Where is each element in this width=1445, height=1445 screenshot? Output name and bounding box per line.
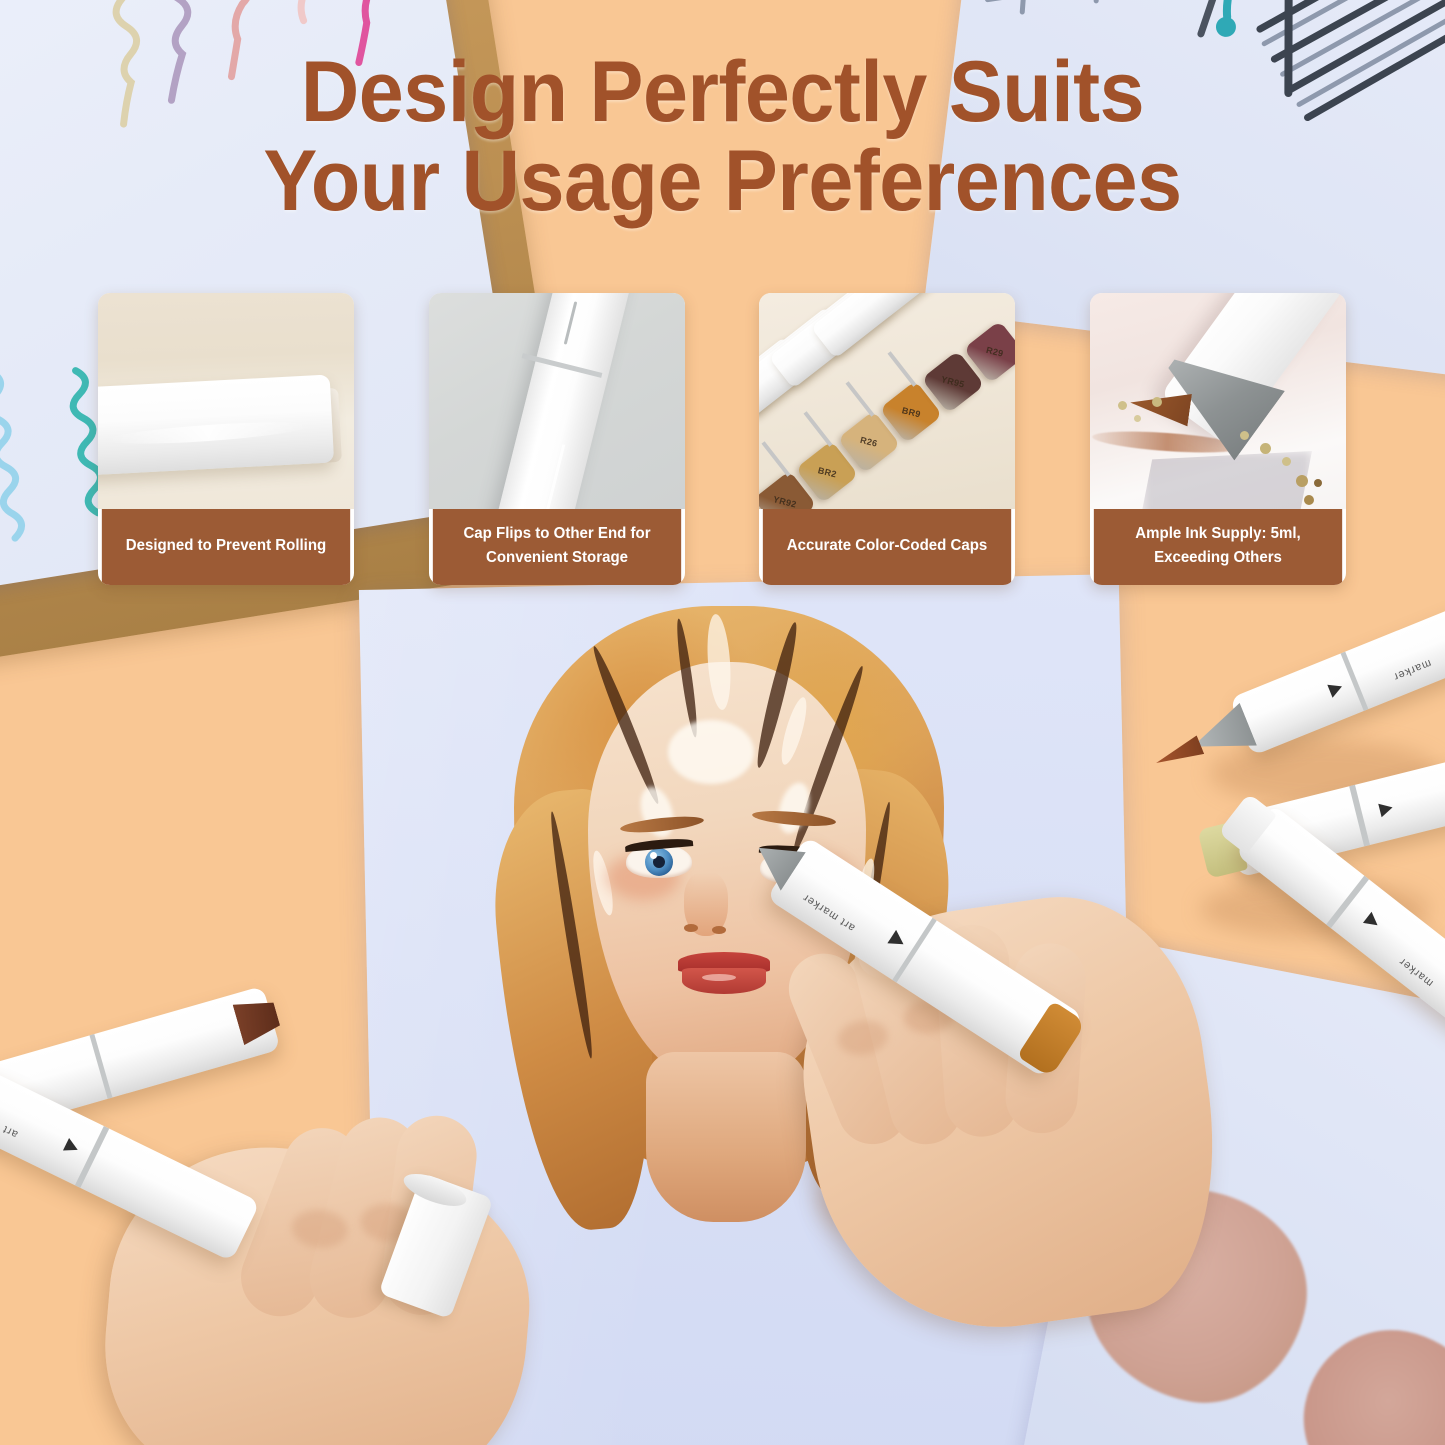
marker-cap-code: R29 <box>986 345 1005 359</box>
feature-label-color-coded-caps: Accurate Color-Coded Caps <box>763 509 1011 585</box>
product-infographic: Design Perfectly Suits Your Usage Prefer… <box>0 0 1445 1445</box>
feature-image-color-coded-caps: YR92BR2R26BR9YR95R29 <box>759 293 1015 509</box>
marker-cap-code: BR2 <box>817 465 838 479</box>
feature-card-prevent-rolling[interactable]: Designed to Prevent Rolling <box>98 293 354 585</box>
feature-image-ink-supply <box>1090 293 1346 509</box>
feature-label-ink-supply: Ample Ink Supply: 5ml, Exceeding Others <box>1094 509 1342 585</box>
marker-cap-code: BR9 <box>901 405 922 419</box>
feature-label-prevent-rolling: Designed to Prevent Rolling <box>102 509 350 585</box>
feature-card-cap-flip[interactable]: Cap Flips to Other End for Convenient St… <box>429 293 685 585</box>
marker-cap-code: R26 <box>860 435 879 449</box>
feature-label-cap-flip: Cap Flips to Other End for Convenient St… <box>432 509 680 585</box>
marker-cap-code: YR92 <box>773 494 798 509</box>
color-swatch-blob <box>1288 1315 1445 1445</box>
page-title: Design Perfectly Suits Your Usage Prefer… <box>43 48 1401 227</box>
feature-image-cap-flip <box>429 293 685 509</box>
marker-cap-code: YR95 <box>941 374 966 389</box>
feature-card-ink-supply[interactable]: Ample Ink Supply: 5ml, Exceeding Others <box>1090 293 1346 585</box>
feature-card-color-coded-caps[interactable]: YR92BR2R26BR9YR95R29 Accurate Color-Code… <box>759 293 1015 585</box>
marker-right-brush-top: marker <box>1229 586 1445 756</box>
feature-card-row: Designed to Prevent Rolling Cap Flips to… <box>98 293 1346 585</box>
feature-image-prevent-rolling <box>98 293 354 509</box>
